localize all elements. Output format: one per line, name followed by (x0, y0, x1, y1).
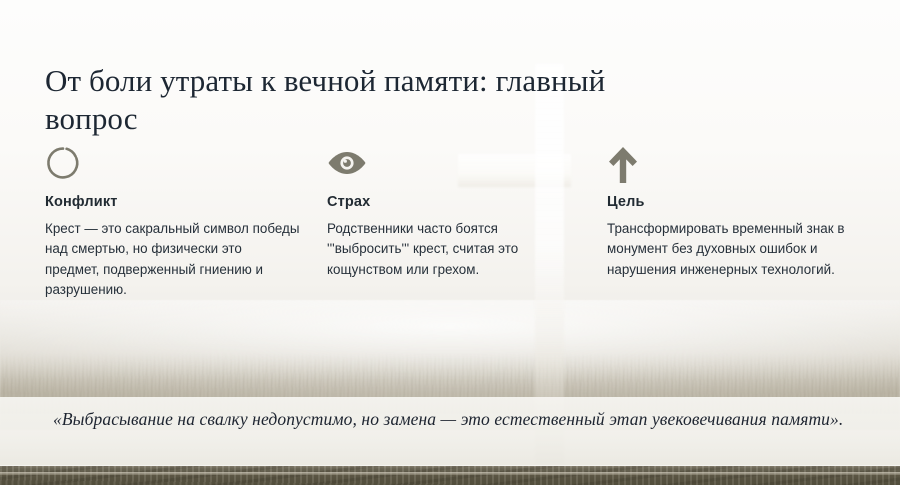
column-goal: Цель Трансформировать временный знак в м… (607, 145, 855, 280)
column-body: Крест — это сакральный символ победы над… (45, 219, 300, 301)
column-heading: Конфликт (45, 194, 300, 210)
column-body: Родственники часто боятся '''выбросить''… (327, 219, 577, 280)
column-heading: Цель (607, 194, 855, 210)
column-fear: Страх Родственники часто боятся '''выбро… (327, 145, 577, 280)
broken-circle-icon (45, 145, 300, 185)
column-conflict: Конфликт Крест — это сакральный символ п… (45, 145, 300, 301)
eye-icon (327, 145, 577, 185)
quote-text: «Выбрасывание на свалку недопустимо, но … (53, 406, 853, 432)
column-body: Трансформировать временный знак в монуме… (607, 219, 855, 280)
background-ground-edge (0, 472, 900, 475)
arrow-up-icon (607, 145, 855, 185)
background-ground (0, 466, 900, 485)
quote-band: «Выбрасывание на свалку недопустимо, но … (0, 397, 900, 466)
page-title: От боли утраты к вечной памяти: главный … (45, 62, 645, 138)
slide-canvas: От боли утраты к вечной памяти: главный … (0, 0, 900, 485)
column-heading: Страх (327, 194, 577, 210)
